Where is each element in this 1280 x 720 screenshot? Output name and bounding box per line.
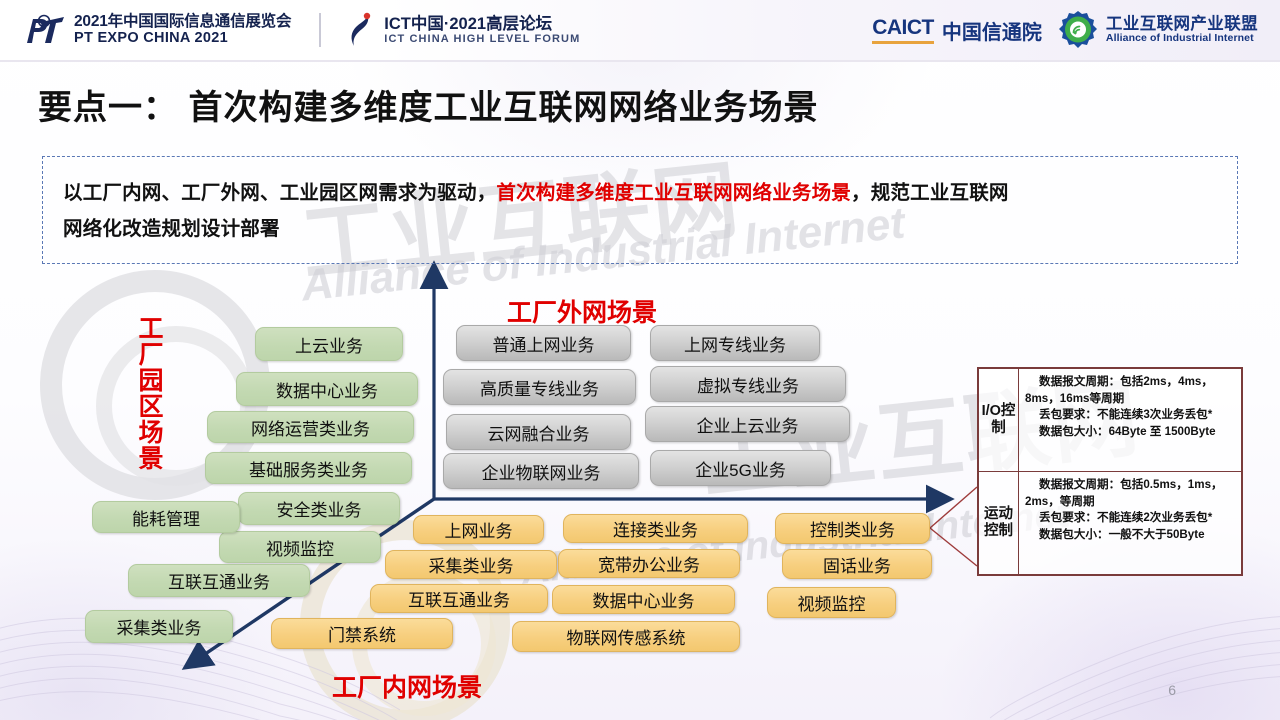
pill-label: 普通上网业务 xyxy=(493,331,595,356)
campus-scenario-pill-1[interactable]: 数据中心业务 xyxy=(236,372,418,406)
spec-key-motion-control: 运动控制 xyxy=(979,472,1019,574)
spec-line: 数据报文周期：包括0.5ms，1ms， xyxy=(1025,477,1235,494)
pill-label: 数据中心业务 xyxy=(276,377,378,402)
pill-label: 上网专线业务 xyxy=(684,331,786,356)
spec-line: 数据报文周期：包括2ms，4ms， xyxy=(1025,374,1235,391)
page-number: 6 xyxy=(1168,682,1176,698)
pill-label: 物联网传感系统 xyxy=(567,624,686,649)
spec-line: 数据包大小：一般不大于50Byte xyxy=(1025,527,1235,544)
pill-label: 网络运营类业务 xyxy=(251,415,370,440)
spec-values-io-control: 数据报文周期：包括2ms，4ms， 8ms，16ms等周期 丢包要求：不能连续3… xyxy=(1019,369,1241,471)
spec-line: 丢包要求：不能连续2次业务丢包* xyxy=(1025,510,1235,527)
intranet-scenario-pill-2[interactable]: 控制类业务 xyxy=(775,513,930,544)
campus-scenario-pill-6[interactable]: 能耗管理 xyxy=(92,501,240,533)
pill-label: 视频监控 xyxy=(798,590,866,615)
campus-scenario-pill-7[interactable]: 互联互通业务 xyxy=(128,564,310,597)
spec-line: 2ms，等周期 xyxy=(1025,494,1235,511)
pill-label: 上网业务 xyxy=(445,517,513,542)
extranet-scenario-pill-3[interactable]: 虚拟专线业务 xyxy=(650,366,846,402)
pill-label: 虚拟专线业务 xyxy=(697,372,799,397)
campus-scenario-pill-3[interactable]: 基础服务类业务 xyxy=(205,452,412,484)
slide-canvas: 工业互联网 工业互联网 Alliance of Industrial Inter… xyxy=(0,0,1280,720)
extranet-scenario-pill-2[interactable]: 高质量专线业务 xyxy=(443,369,636,405)
extranet-scenario-pill-4[interactable]: 企业上云业务 xyxy=(645,406,850,442)
pill-label: 视频监控 xyxy=(266,535,334,560)
pill-label: 高质量专线业务 xyxy=(480,375,599,400)
axis-label-extranet: 工厂外网场景 xyxy=(507,293,657,329)
spec-row-motion-control: 运动控制 数据报文周期：包括0.5ms，1ms， 2ms，等周期 丢包要求：不能… xyxy=(979,472,1241,574)
intranet-scenario-pill-1[interactable]: 连接类业务 xyxy=(563,514,748,543)
pill-label: 互联互通业务 xyxy=(408,586,510,611)
pill-label: 采集类业务 xyxy=(117,614,202,639)
pill-label: 连接类业务 xyxy=(613,516,698,541)
extranet-scenario-pill-7[interactable]: 企业5G业务 xyxy=(650,450,831,486)
pill-label: 企业上云业务 xyxy=(697,412,799,437)
intranet-scenario-pill-8[interactable]: 视频监控 xyxy=(767,587,896,618)
pill-label: 控制类业务 xyxy=(810,516,895,541)
campus-scenario-pill-8[interactable]: 采集类业务 xyxy=(85,610,233,643)
campus-scenario-pill-0[interactable]: 上云业务 xyxy=(255,327,403,361)
campus-scenario-pill-4[interactable]: 安全类业务 xyxy=(238,492,400,525)
pill-label: 固话业务 xyxy=(823,552,891,577)
intranet-scenario-pill-9[interactable]: 门禁系统 xyxy=(271,618,453,649)
spec-table: I/O控制 数据报文周期：包括2ms，4ms， 8ms，16ms等周期 丢包要求… xyxy=(977,367,1243,576)
spec-values-motion-control: 数据报文周期：包括0.5ms，1ms， 2ms，等周期 丢包要求：不能连续2次业… xyxy=(1019,472,1241,574)
extranet-scenario-pill-1[interactable]: 上网专线业务 xyxy=(650,325,820,361)
intranet-scenario-pill-3[interactable]: 采集类业务 xyxy=(385,550,557,579)
pill-label: 基础服务类业务 xyxy=(249,456,368,481)
intranet-scenario-pill-7[interactable]: 数据中心业务 xyxy=(552,585,735,614)
spec-row-io-control: I/O控制 数据报文周期：包括2ms，4ms， 8ms，16ms等周期 丢包要求… xyxy=(979,369,1241,472)
connector-to-motion-control xyxy=(930,528,977,566)
spec-line: 丢包要求：不能连续3次业务丢包* xyxy=(1025,407,1235,424)
axis-label-intranet: 工厂内网场景 xyxy=(332,668,482,704)
spec-line: 8ms，16ms等周期 xyxy=(1025,391,1235,408)
spec-line: 数据包大小：64Byte 至 1500Byte xyxy=(1025,424,1235,441)
extranet-scenario-pill-6[interactable]: 企业物联网业务 xyxy=(443,453,639,489)
intranet-scenario-pill-6[interactable]: 互联互通业务 xyxy=(370,584,548,613)
pill-label: 上云业务 xyxy=(295,332,363,357)
pill-label: 企业5G业务 xyxy=(695,456,786,481)
pill-label: 宽带办公业务 xyxy=(598,551,700,576)
campus-scenario-pill-5[interactable]: 视频监控 xyxy=(219,531,381,563)
pill-label: 云网融合业务 xyxy=(488,420,590,445)
connector-to-io-control xyxy=(930,487,977,528)
axis-label-campus: 工厂园区场景 xyxy=(136,316,166,472)
pill-label: 企业物联网业务 xyxy=(482,459,601,484)
pill-label: 采集类业务 xyxy=(429,552,514,577)
pill-label: 互联互通业务 xyxy=(168,568,270,593)
pill-label: 门禁系统 xyxy=(328,621,396,646)
campus-scenario-pill-2[interactable]: 网络运营类业务 xyxy=(207,411,414,443)
intranet-scenario-pill-10[interactable]: 物联网传感系统 xyxy=(512,621,740,652)
pill-label: 数据中心业务 xyxy=(593,587,695,612)
intranet-scenario-pill-5[interactable]: 固话业务 xyxy=(782,549,932,579)
intranet-scenario-pill-0[interactable]: 上网业务 xyxy=(413,515,544,544)
pill-label: 安全类业务 xyxy=(277,496,362,521)
extranet-scenario-pill-0[interactable]: 普通上网业务 xyxy=(456,325,631,361)
pill-label: 能耗管理 xyxy=(132,505,200,530)
intranet-scenario-pill-4[interactable]: 宽带办公业务 xyxy=(558,549,740,578)
extranet-scenario-pill-5[interactable]: 云网融合业务 xyxy=(446,414,631,450)
spec-key-io-control: I/O控制 xyxy=(979,369,1019,471)
